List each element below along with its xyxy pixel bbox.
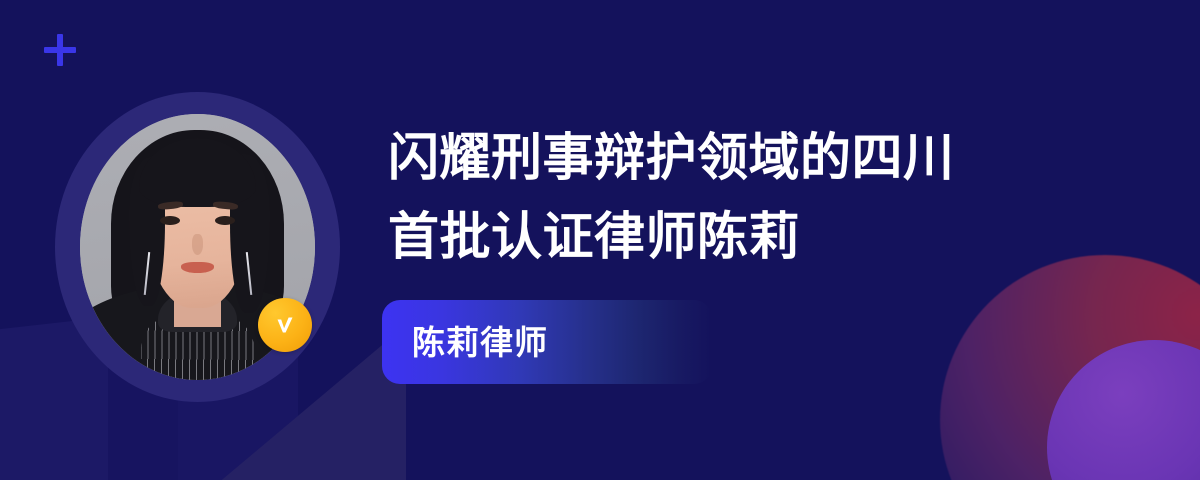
avatar: [55, 92, 340, 402]
lawyer-name-label: 陈莉律师: [412, 326, 548, 359]
banner-copy: 闪耀刑事辩护领域的四川 首批认证律师陈莉: [388, 118, 1148, 276]
verified-badge-icon: [258, 298, 312, 352]
page-title: 闪耀刑事辩护领域的四川 首批认证律师陈莉: [388, 118, 1148, 276]
lawyer-profile-banner: 闪耀刑事辩护领域的四川 首批认证律师陈莉 陈莉律师: [0, 0, 1200, 480]
lawyer-name-chip[interactable]: 陈莉律师: [382, 300, 712, 384]
plus-icon: [44, 34, 76, 66]
